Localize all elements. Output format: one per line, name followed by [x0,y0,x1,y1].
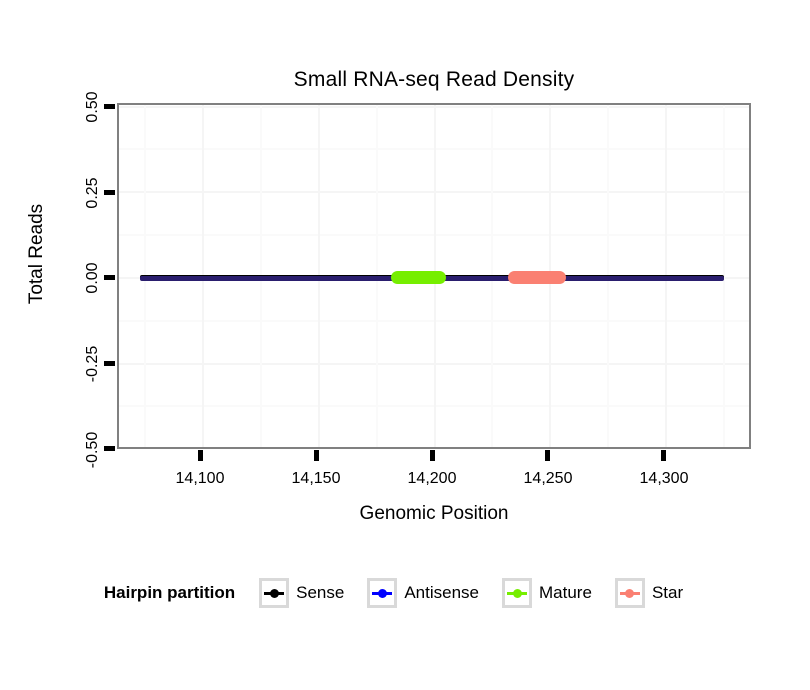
y-tick-label-0: 0.50 [84,75,102,139]
y-tick-mark-3 [104,361,115,366]
chart-title: Small RNA-seq Read Density [117,68,751,92]
legend-item-star[interactable]: Star [615,578,697,608]
legend-label-star: Star [652,583,683,603]
legend-title: Hairpin partition [104,583,235,603]
x-tick-label-3: 14,250 [493,470,603,488]
line-point-key-icon [502,578,532,608]
x-tick-mark-0 [198,450,203,461]
x-tick-mark-4 [661,450,666,461]
series-segment-star [508,271,566,284]
x-tick-mark-2 [430,450,435,461]
series-segment-mature [391,271,446,284]
y-axis-title: Total Reads [26,194,48,314]
legend-item-antisense[interactable]: Antisense [367,578,493,608]
x-tick-label-4: 14,300 [609,470,719,488]
x-tick-mark-3 [545,450,550,461]
line-point-key-icon [367,578,397,608]
line-point-key-icon [259,578,289,608]
y-tick-label-2: 0.00 [84,246,102,310]
line-point-key-icon [615,578,645,608]
chart-figure: Small RNA-seq Read Density Total Reads 0… [0,0,810,690]
legend-label-antisense: Antisense [404,583,479,603]
x-axis-title: Genomic Position [117,503,751,525]
y-tick-mark-2 [104,275,115,280]
plot-panel [117,103,751,449]
y-tick-label-1: 0.25 [84,161,102,225]
gridline-y-neg050 [119,448,749,449]
legend-item-mature[interactable]: Mature [502,578,606,608]
y-tick-mark-4 [104,446,115,451]
x-tick-label-1: 14,150 [261,470,371,488]
legend-item-sense[interactable]: Sense [259,578,358,608]
x-tick-mark-1 [314,450,319,461]
x-tick-label-2: 14,200 [377,470,487,488]
chart-legend: Hairpin partition Sense Antisense Mature [0,578,810,608]
y-tick-label-3: -0.25 [84,332,102,396]
x-tick-label-0: 14,100 [145,470,255,488]
y-tick-mark-1 [104,190,115,195]
y-tick-label-4: -0.50 [84,418,102,482]
legend-label-mature: Mature [539,583,592,603]
legend-label-sense: Sense [296,583,344,603]
y-tick-mark-0 [104,104,115,109]
